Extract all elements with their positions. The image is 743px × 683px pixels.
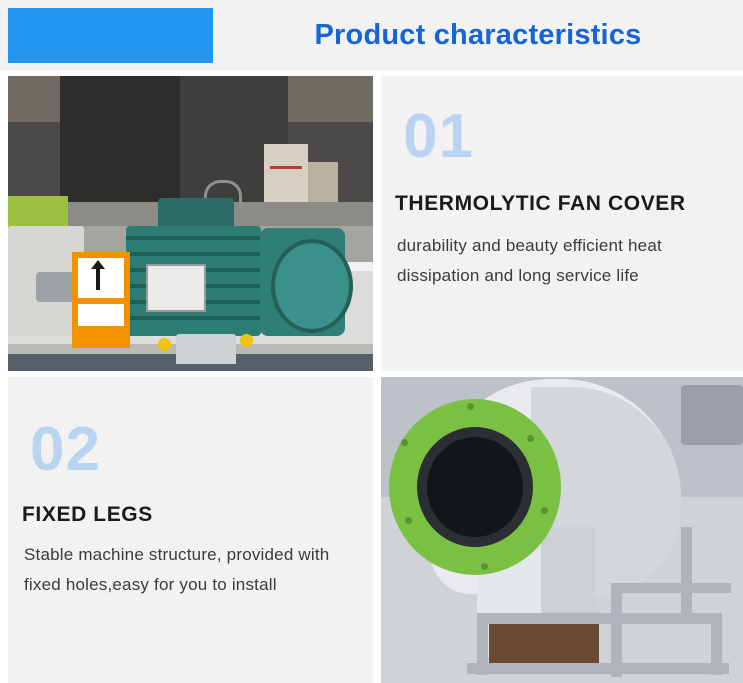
photo2-ring-bolt-4 [481, 563, 488, 570]
photo2-motor-block [681, 385, 743, 445]
photo2-ring-bolt-6 [401, 439, 408, 446]
photo1-fan-grille [271, 239, 353, 333]
photo2-ring-bolt-2 [527, 435, 534, 442]
feature-1-image [8, 76, 373, 371]
photo2-frame-rear-rail [611, 583, 731, 593]
photo2-ring-bolt-1 [467, 403, 474, 410]
photo1-carton-stripe [270, 166, 302, 169]
photo1-carton-a [264, 144, 308, 206]
photo1-guard-label-lower [78, 304, 124, 326]
feature-1-number: 01 [403, 106, 474, 168]
feature-1-text-panel: 01 THERMOLYTIC FAN COVER durability and … [381, 76, 743, 371]
product-characteristics-page: Product characteristics [0, 0, 743, 683]
header-accent-block [8, 8, 213, 63]
row-gutter [0, 371, 743, 377]
photo2-frame-leg-rear [681, 527, 692, 623]
photo2-ground-patch [489, 621, 599, 667]
photo1-support-bracket [176, 334, 236, 364]
header-gutter [0, 70, 743, 76]
feature-2-image [381, 377, 743, 683]
page-header: Product characteristics [0, 0, 743, 70]
photo1-terminal-box [146, 264, 206, 312]
photo2-inlet-interior [427, 437, 523, 537]
feature-1-heading: THERMOLYTIC FAN COVER [395, 192, 686, 216]
feature-2-text-panel: 02 FIXED LEGS Stable machine structure, … [8, 377, 373, 683]
photo1-bolt-cap-1 [158, 338, 171, 351]
photo1-carton-b [308, 162, 338, 206]
feature-row-2: 02 FIXED LEGS Stable machine structure, … [0, 377, 743, 683]
feature-2-body: Stable machine structure, provided with … [24, 540, 354, 600]
feature-row-1: 01 THERMOLYTIC FAN COVER durability and … [0, 76, 743, 371]
photo2-ring-bolt-5 [405, 517, 412, 524]
photo1-direction-arrow-icon [96, 266, 100, 290]
column-gutter [373, 76, 381, 683]
photo2-frame-leg-right [711, 613, 722, 675]
feature-2-heading: FIXED LEGS [22, 503, 153, 527]
photo1-bolt-cap-2 [240, 334, 253, 347]
photo2-frame-front-rail [467, 663, 729, 674]
photo2-frame-leg-mid [611, 587, 622, 677]
photo2-frame-leg-left [477, 613, 488, 675]
feature-1-body: durability and beauty efficient heat dis… [397, 231, 737, 291]
photo2-ring-bolt-3 [541, 507, 548, 514]
page-title: Product characteristics [213, 8, 743, 63]
feature-2-number: 02 [30, 419, 101, 481]
